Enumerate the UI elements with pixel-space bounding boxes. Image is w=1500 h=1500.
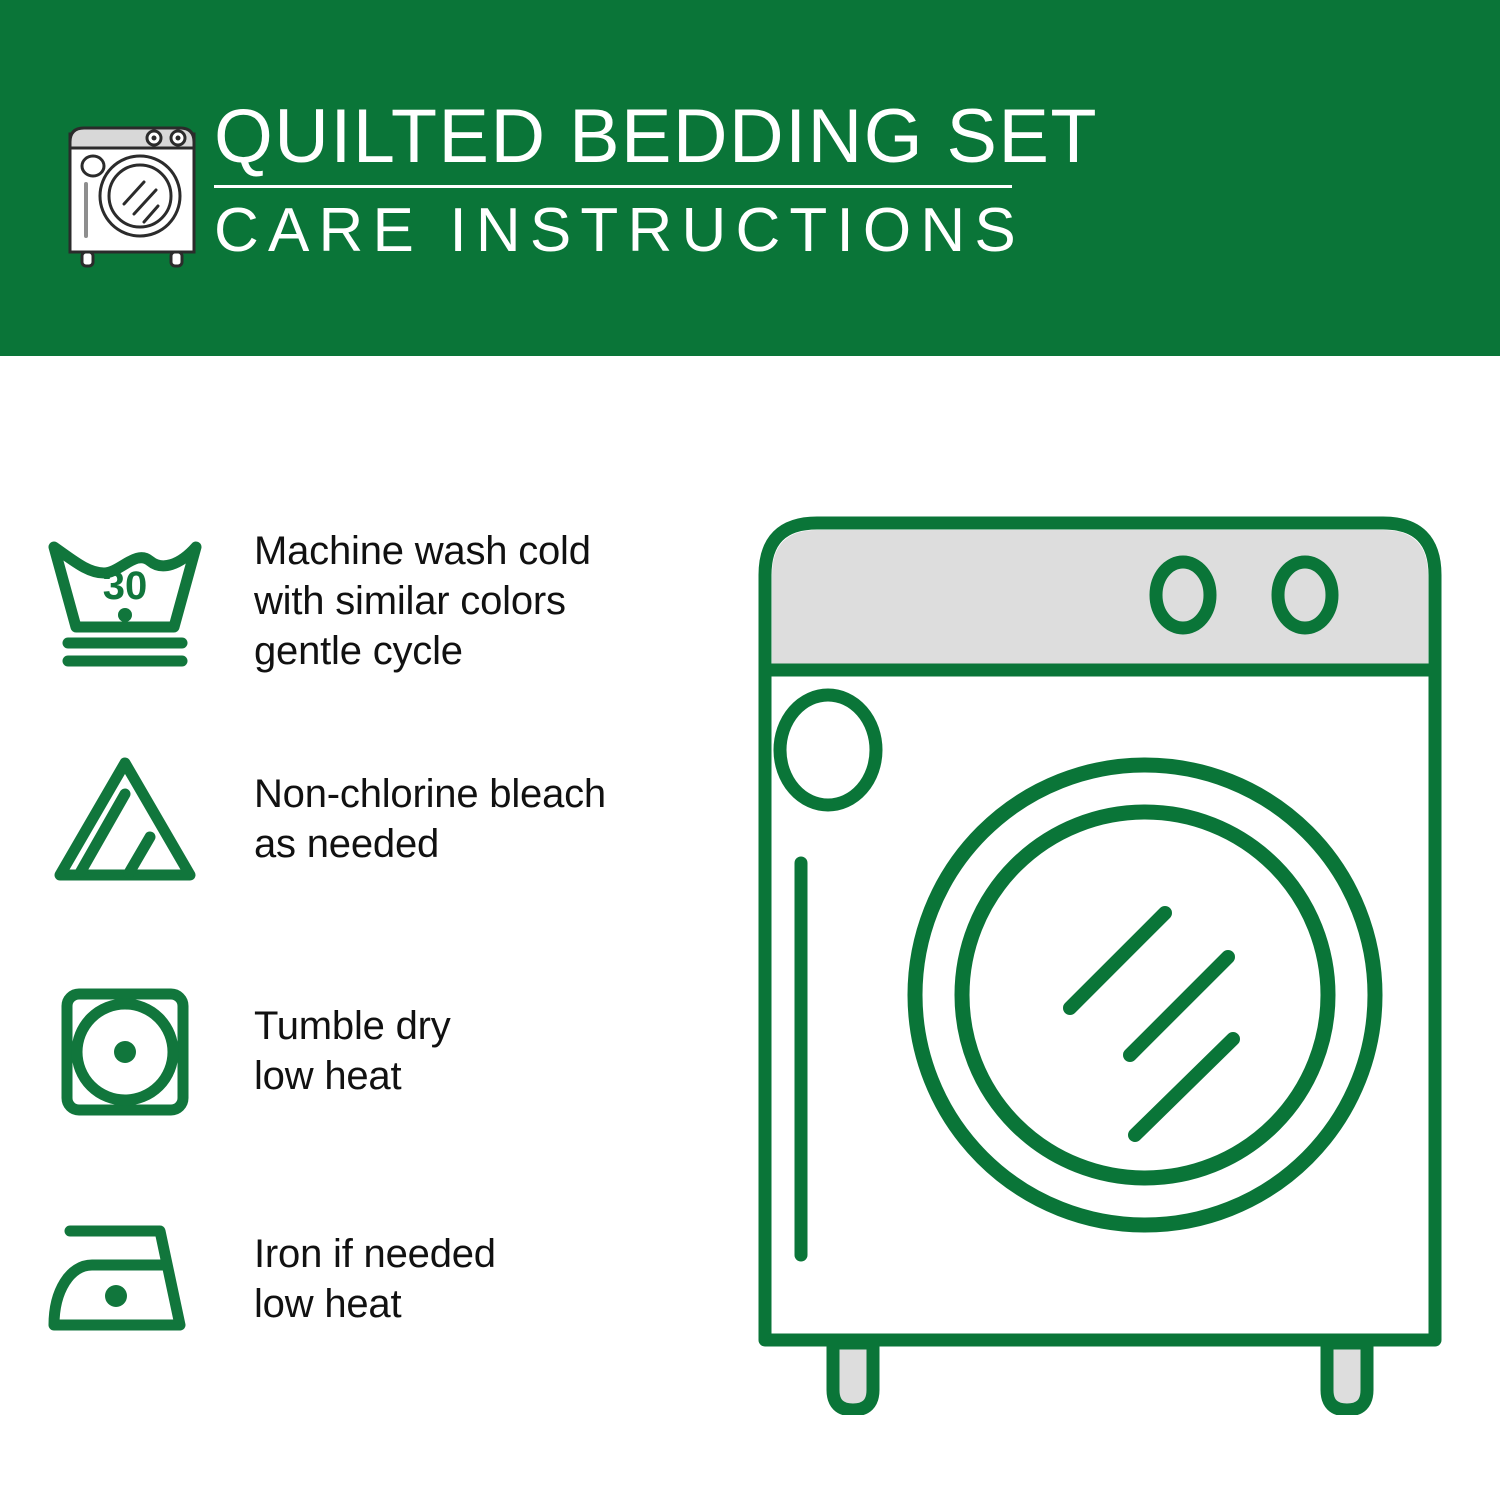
iron-low-heat-symbol [0, 1194, 250, 1364]
care-line: Iron if needed [254, 1229, 496, 1279]
leg-left [833, 1343, 873, 1410]
care-line: with similar colors [254, 576, 591, 626]
care-line: Machine wash cold [254, 526, 591, 576]
knob-left [1156, 562, 1210, 628]
care-line: as needed [254, 819, 606, 869]
header-text-block: QUILTED BEDDING SET CARE INSTRUCTIONS [214, 96, 1024, 266]
care-row-bleach: Non-chlorine bleach as needed [0, 734, 740, 904]
non-chlorine-bleach-symbol [0, 734, 250, 904]
care-instruction-list: 30 Machine wash cold with similar colors… [0, 356, 740, 1500]
care-line: Non-chlorine bleach [254, 769, 606, 819]
front-load-washing-machine-illustration [745, 495, 1455, 1415]
tumble-dry-low-symbol [0, 966, 250, 1136]
care-text-tumble-dry: Tumble dry low heat [250, 1001, 451, 1101]
care-line: Tumble dry [254, 1001, 451, 1051]
wash-temperature-label: 30 [103, 564, 148, 608]
page-subtitle: CARE INSTRUCTIONS [214, 196, 1024, 266]
knob-right [1278, 562, 1332, 628]
leg-right [1327, 1343, 1367, 1410]
machine-wash-30-gentle-symbol: 30 [0, 516, 250, 686]
detergent-indicator [780, 695, 876, 805]
care-row-machine-wash: 30 Machine wash cold with similar colors… [0, 516, 740, 686]
care-line: gentle cycle [254, 626, 591, 676]
washing-machine-icon [62, 104, 202, 269]
care-text-machine-wash: Machine wash cold with similar colors ge… [250, 526, 591, 676]
care-line: low heat [254, 1051, 451, 1101]
care-text-bleach: Non-chlorine bleach as needed [250, 769, 606, 869]
care-line: low heat [254, 1279, 496, 1329]
care-text-iron: Iron if needed low heat [250, 1229, 496, 1329]
page-title: QUILTED BEDDING SET [214, 96, 1020, 178]
header-divider [214, 185, 1012, 188]
care-row-tumble-dry: Tumble dry low heat [0, 966, 740, 1136]
header-banner: QUILTED BEDDING SET CARE INSTRUCTIONS [0, 0, 1500, 356]
care-row-iron: Iron if needed low heat [0, 1194, 740, 1364]
